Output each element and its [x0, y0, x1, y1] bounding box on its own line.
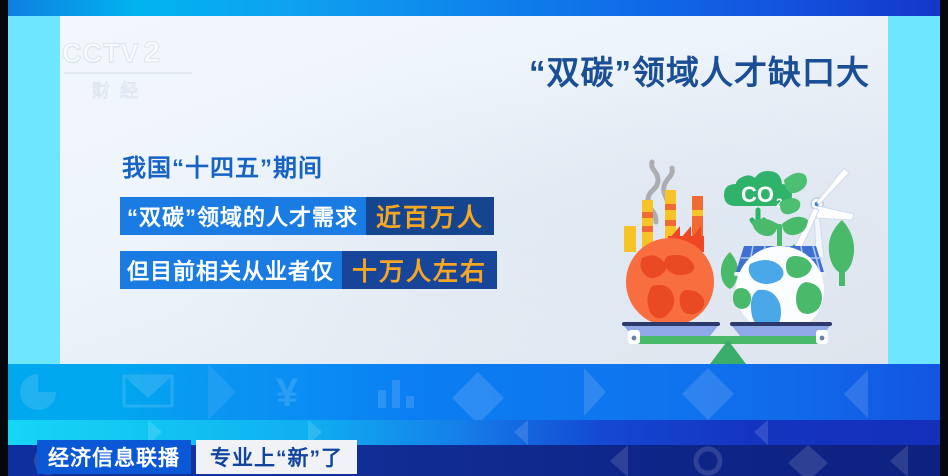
right-cyan-band	[888, 16, 940, 364]
page-title: “双碳”领域人才缺口大	[470, 46, 870, 94]
right-black-edge	[940, 0, 948, 476]
top-gradient-strip	[8, 0, 940, 16]
polluted-earth-icon	[626, 238, 714, 326]
band-pattern-icons: ¥	[8, 364, 940, 420]
left-black-edge	[0, 0, 8, 476]
stat-row-demand: “双碳”领域的人才需求 近百万人	[120, 197, 494, 235]
cctv-logo-subtitle: 财经	[62, 77, 202, 103]
bottom-band-light: ¥	[8, 364, 940, 420]
cctv-logo-text: CCTV	[62, 38, 140, 68]
cctv2-logo: CCTV2 财经	[62, 36, 202, 98]
stat-value-current: 十万人左右	[342, 251, 497, 289]
logo-divider	[64, 72, 192, 74]
co2-label: CO	[741, 182, 774, 207]
stat-row-current: 但目前相关从业者仅 十万人左右	[120, 251, 497, 289]
left-cyan-band	[8, 16, 60, 364]
svg-text:¥: ¥	[276, 371, 299, 415]
carbon-balance-illustration: CO 2	[608, 140, 870, 364]
segment-topic: 专业上“新”了	[196, 440, 357, 474]
stat-value-demand: 近百万人	[366, 197, 494, 235]
lower-third-banner: 经济信息联播 专业上“新”了	[37, 440, 357, 474]
stat-label-demand: “双碳”领域的人才需求	[120, 197, 366, 235]
intro-line: 我国“十四五”期间	[122, 148, 323, 183]
cctv-channel-number: 2	[144, 36, 161, 70]
program-name: 经济信息联播	[37, 440, 191, 474]
stat-label-current: 但目前相关从业者仅	[120, 251, 342, 289]
broadcast-screen: CCTV2 财经 “双碳”领域人才缺口大 我国“十四五”期间 “双碳”领域的人才…	[0, 0, 948, 476]
